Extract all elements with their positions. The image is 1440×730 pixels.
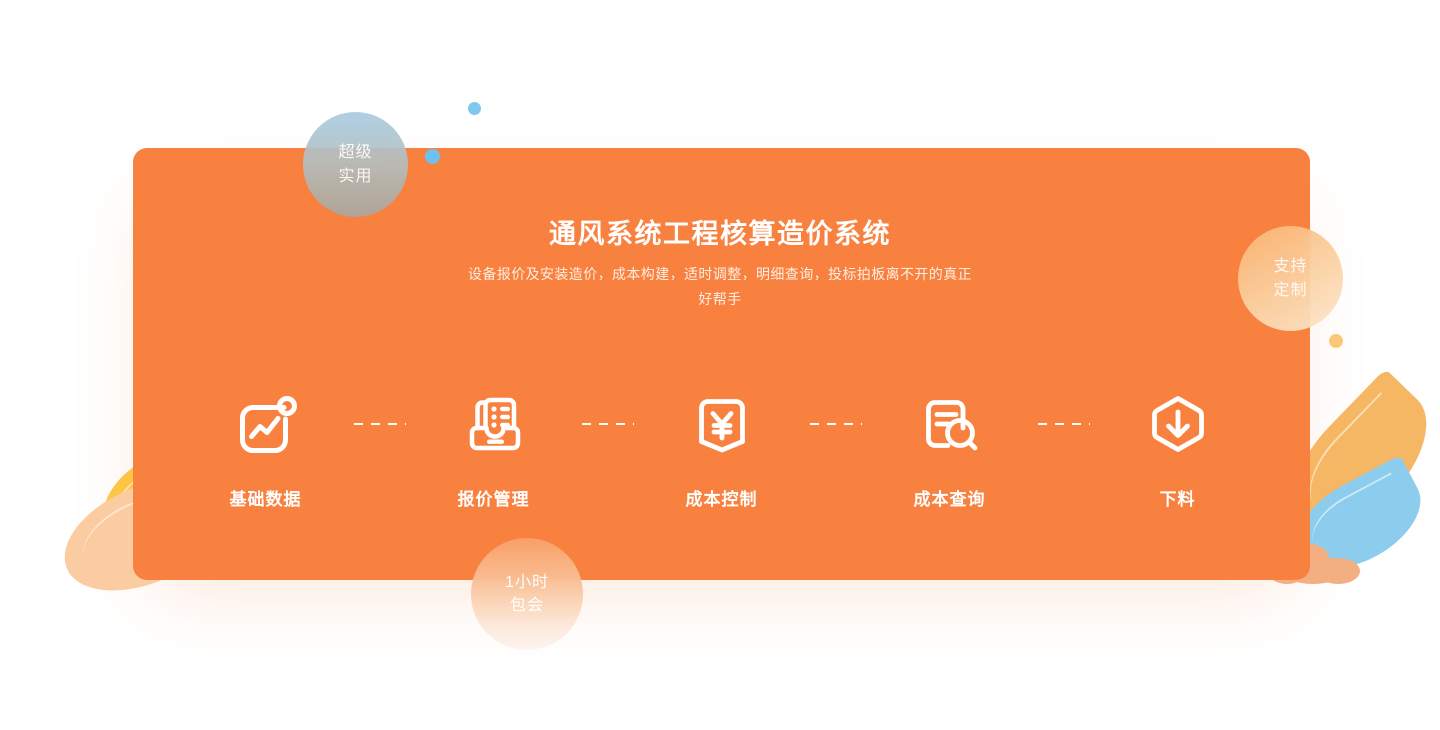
badge-line-2: 实用 [338, 165, 372, 188]
feature-item-cost-control[interactable]: 成本控制 [647, 380, 797, 510]
page-title: 通风系统工程核算造价系统 [0, 212, 1440, 251]
document-search-icon [906, 380, 994, 468]
connector-dashes [341, 380, 419, 468]
feature-item-quote-management[interactable]: 报价管理 [419, 380, 569, 510]
page-subtitle: 设备报价及安装造价，成本构建，适时调整，明细查询，投标拍板离不开的真正好帮手 [466, 262, 974, 312]
hexagon-arrow-down-icon [1134, 380, 1222, 468]
dot-blue-top-icon [468, 102, 481, 115]
dot-blue-mid-icon [425, 149, 440, 164]
feature-item-material-cutting[interactable]: 下料 [1103, 380, 1253, 510]
feature-label: 成本查询 [914, 485, 986, 510]
badge-super-useful[interactable]: 超级 实用 [303, 112, 408, 217]
feature-label: 下料 [1160, 485, 1196, 510]
badge-line-1: 支持 [1273, 255, 1307, 278]
hero-banner-stage: 通风系统工程核算造价系统 设备报价及安装造价，成本构建，适时调整，明细查询，投标… [0, 0, 1440, 730]
chart-square-icon [222, 380, 310, 468]
badge-supports-customization[interactable]: 支持 定制 [1238, 226, 1343, 331]
document-tray-icon [450, 380, 538, 468]
badge-line-1: 超级 [338, 141, 372, 164]
yuan-banner-icon [678, 380, 766, 468]
feature-label: 成本控制 [686, 485, 758, 510]
feature-label: 基础数据 [230, 485, 302, 510]
badge-line-1: 1小时 [505, 571, 549, 594]
feature-row: 基础数据 报价管理 [133, 380, 1310, 530]
connector-dashes [1025, 380, 1103, 468]
badge-line-2: 包会 [510, 594, 544, 617]
badge-line-2: 定制 [1273, 279, 1307, 302]
dot-amber-right-icon [1329, 334, 1343, 348]
badge-one-hour-mastery[interactable]: 1小时 包会 [471, 538, 583, 650]
feature-item-basic-data[interactable]: 基础数据 [191, 380, 341, 510]
connector-dashes [797, 380, 875, 468]
feature-label: 报价管理 [458, 485, 530, 510]
feature-item-cost-query[interactable]: 成本查询 [875, 380, 1025, 510]
connector-dashes [569, 380, 647, 468]
